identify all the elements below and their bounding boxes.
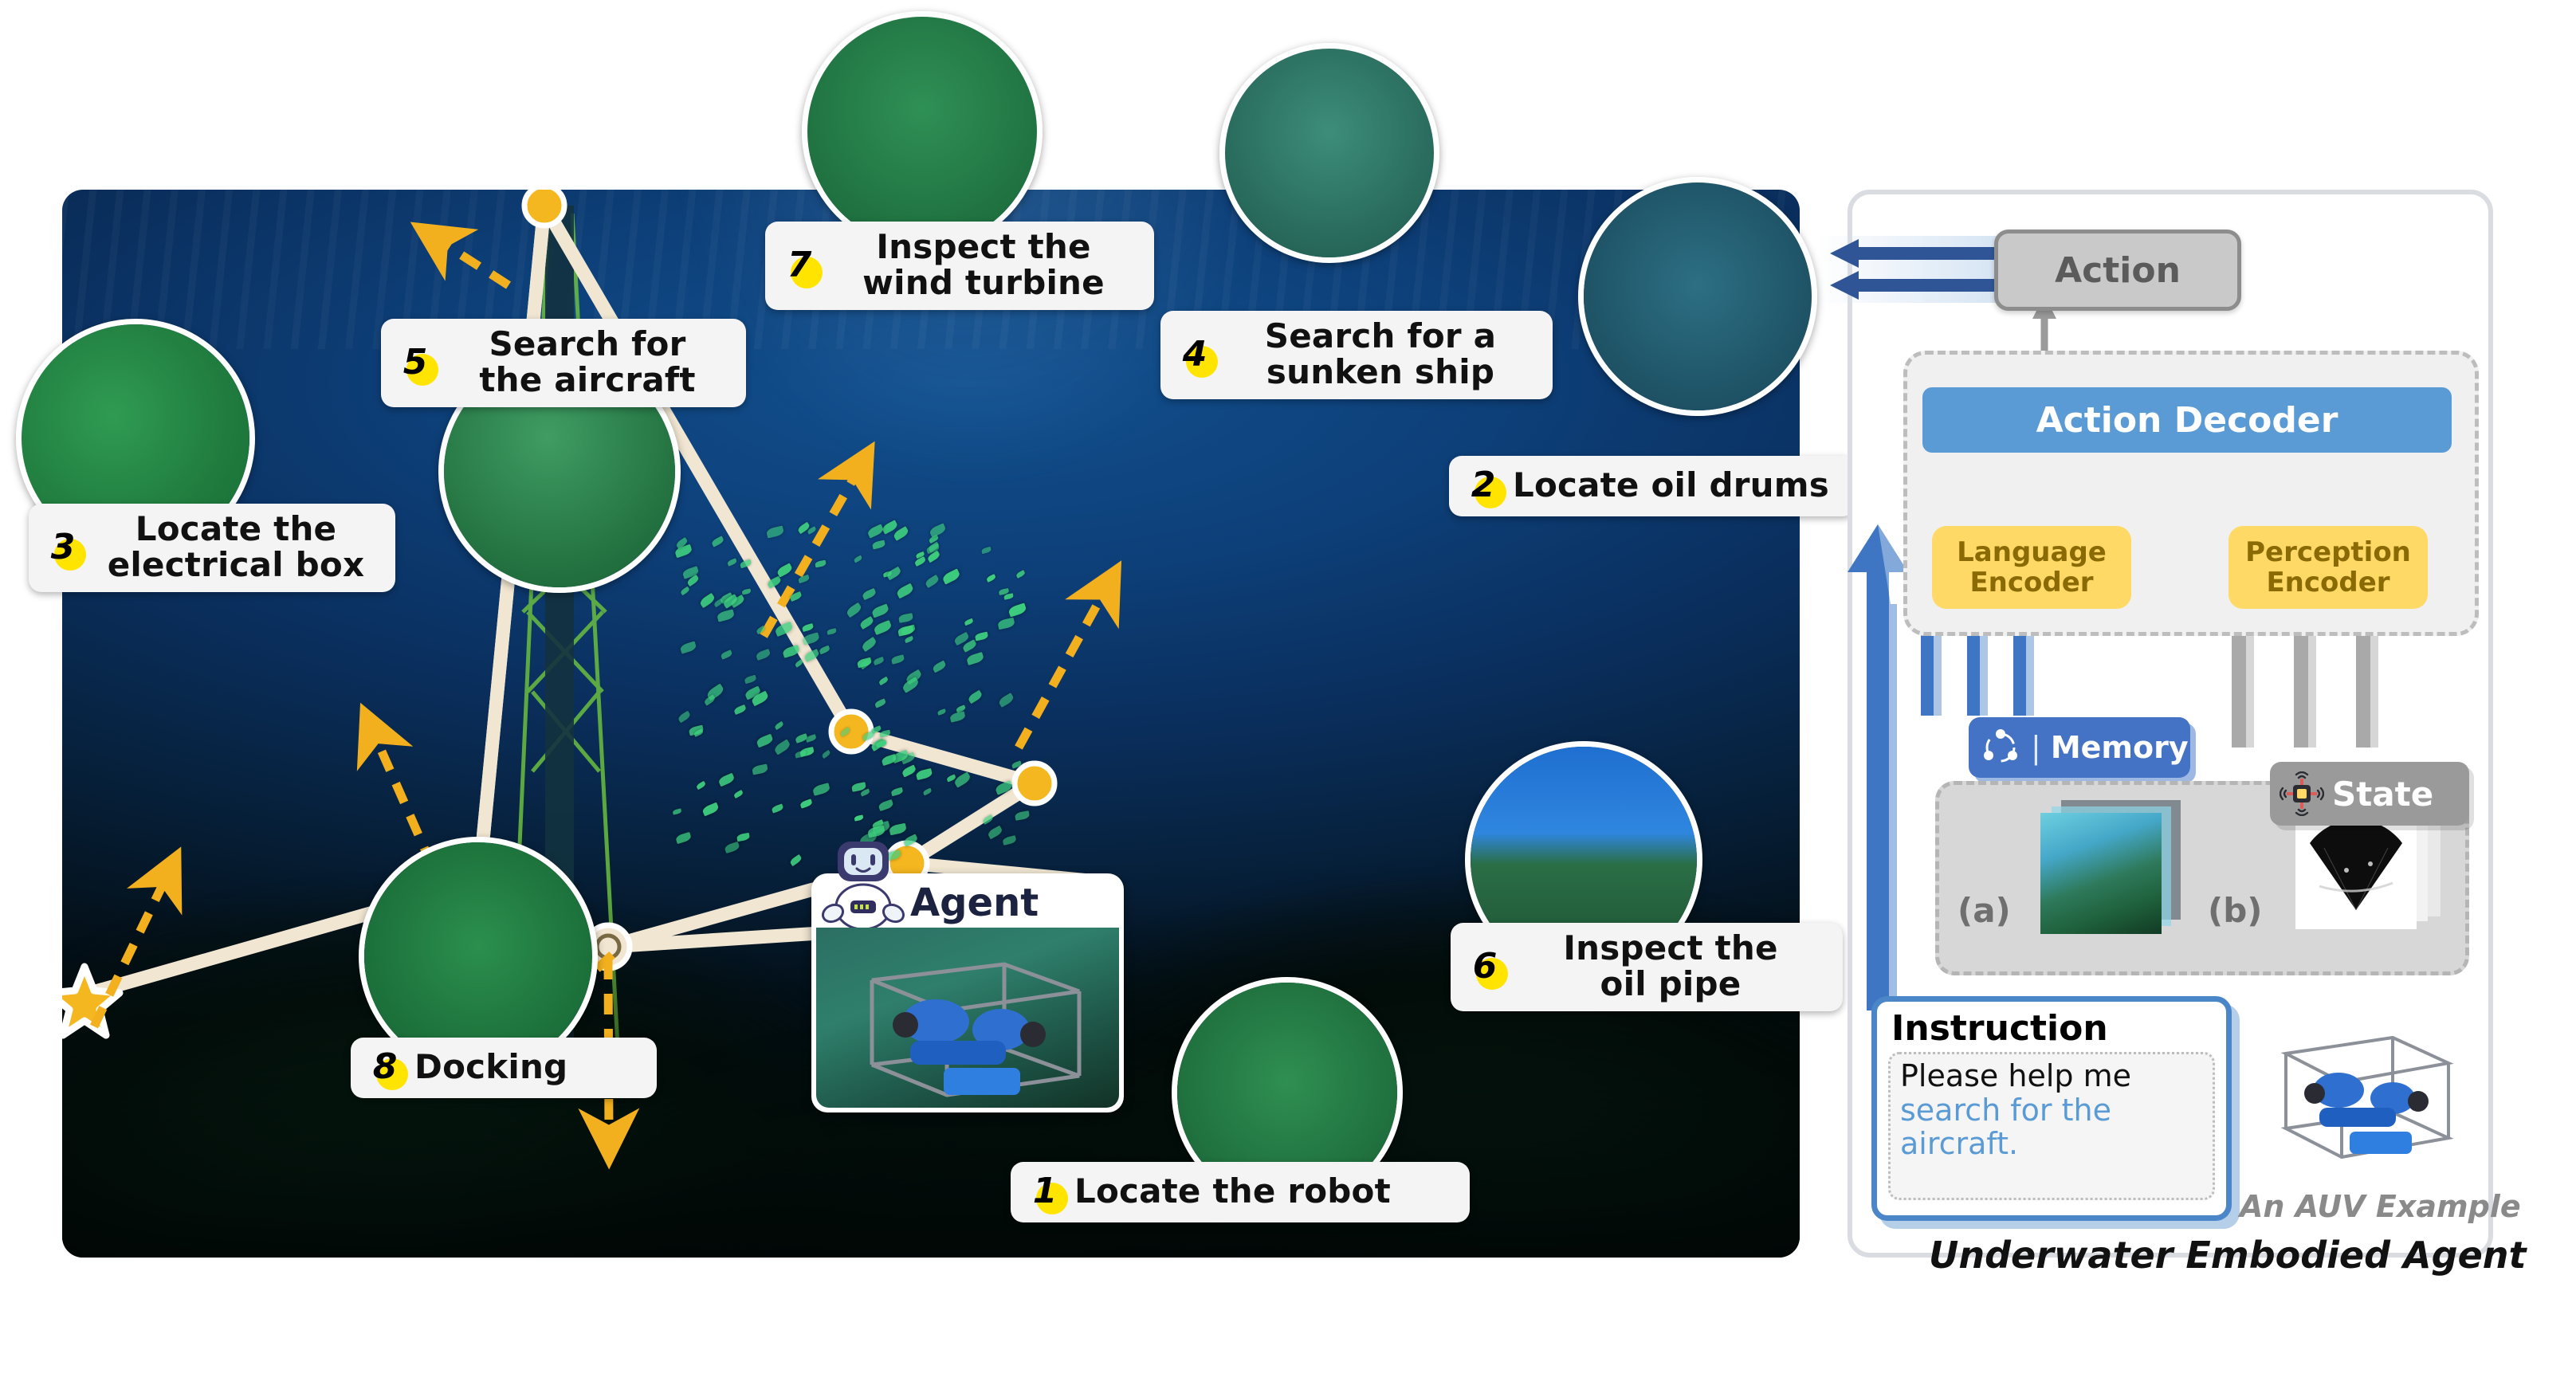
task-badge-1: 1 xyxy=(1027,1170,1070,1213)
state-label: State xyxy=(2332,775,2433,814)
memory-divider: | xyxy=(2031,730,2041,765)
task-label-4: Search for a sunken ship xyxy=(1224,319,1537,390)
task-callout-2[interactable]: 2 Locate oil drums xyxy=(1449,456,1855,516)
instruction-box[interactable]: Instruction Please help me search for th… xyxy=(1871,996,2232,1221)
instruction-line-1: Please help me xyxy=(1900,1059,2203,1093)
task-callout-6[interactable]: 6 Inspect the oil pipe xyxy=(1451,923,1843,1011)
task-label-2: Locate oil drums xyxy=(1513,468,1840,504)
task-callout-1[interactable]: 1 Locate the robot xyxy=(1011,1162,1470,1222)
oil-drums-thumbnail[interactable] xyxy=(1578,177,1817,416)
agent-card[interactable]: Agent xyxy=(811,873,1124,1112)
memory-label: Memory xyxy=(2051,730,2189,765)
task-label-3: Locate the electrical box xyxy=(92,512,379,583)
wind-turbine-thumbnail[interactable] xyxy=(802,11,1043,252)
auv-example-illustration xyxy=(2262,1007,2466,1176)
instruction-title: Instruction xyxy=(1891,1008,2215,1049)
task-label-1: Locate the robot xyxy=(1074,1174,1454,1210)
task-callout-8[interactable]: 8 Docking xyxy=(351,1038,657,1098)
language-encoder-node[interactable]: Language Encoder xyxy=(1932,526,2131,609)
task-badge-3: 3 xyxy=(45,526,88,569)
action-decoder-node[interactable]: Action Decoder xyxy=(1922,387,2452,453)
task-badge-8: 8 xyxy=(367,1046,410,1089)
task-badge-7: 7 xyxy=(781,244,824,287)
instruction-line-2: search for the xyxy=(1900,1093,2203,1128)
observation-key-b: (b) xyxy=(2208,891,2262,930)
perception-encoder-node[interactable]: Perception Encoder xyxy=(2228,526,2428,609)
memory-chip[interactable]: | Memory xyxy=(1969,717,2190,778)
task-callout-3[interactable]: 3 Locate the electrical box xyxy=(29,504,395,592)
auv-scene-photo xyxy=(816,928,1119,1108)
task-label-6: Inspect the oil pipe xyxy=(1514,931,1827,1002)
task-label-7: Inspect the wind turbine xyxy=(829,230,1138,300)
panel-caption: Underwater Embodied Agent xyxy=(1929,1234,2527,1277)
instruction-line-3: aircraft. xyxy=(1900,1127,2203,1161)
sensor-chip-icon xyxy=(2280,771,2324,816)
task-badge-5: 5 xyxy=(397,341,440,384)
start-star-marker xyxy=(62,967,120,1035)
observation-key-a: (a) xyxy=(1958,891,2011,930)
instruction-text-body[interactable]: Please help me search for the aircraft. xyxy=(1888,1052,2215,1200)
camera-image-stack[interactable] xyxy=(2040,800,2181,934)
action-node[interactable]: Action xyxy=(1994,230,2241,311)
task-badge-6: 6 xyxy=(1467,945,1510,988)
task-callout-7[interactable]: 7 Inspect the wind turbine xyxy=(765,222,1154,310)
state-chip[interactable]: State xyxy=(2270,762,2469,826)
sunken-ship-thumbnail[interactable] xyxy=(1219,43,1439,263)
task-callout-4[interactable]: 4 Search for a sunken ship xyxy=(1160,311,1553,399)
task-badge-2: 2 xyxy=(1465,464,1508,507)
auv-example-caption: An AUV Example xyxy=(2240,1189,2521,1224)
task-label-5: Search for the aircraft xyxy=(445,327,730,398)
task-badge-4: 4 xyxy=(1176,333,1219,376)
share-nodes-icon xyxy=(1980,727,2021,768)
task-callout-5[interactable]: 5 Search for the aircraft xyxy=(381,319,746,407)
task-label-8: Docking xyxy=(414,1050,641,1085)
robot-avatar-icon xyxy=(816,838,913,932)
